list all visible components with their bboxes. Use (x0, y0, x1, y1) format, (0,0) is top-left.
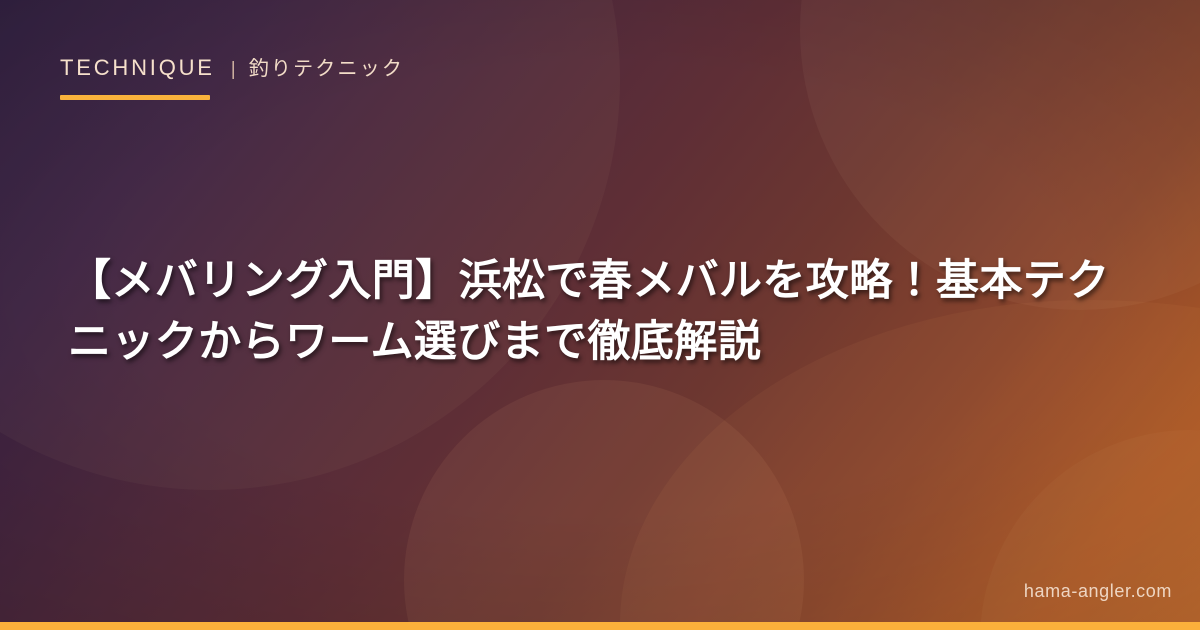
ogp-card: TECHNIQUE | 釣りテクニック 【メバリング入門】浜松で春メバルを攻略！… (0, 0, 1200, 630)
category-label-en: TECHNIQUE (60, 55, 215, 81)
site-domain-label: hama-angler.com (1024, 581, 1172, 602)
page-title: 【メバリング入門】浜松で春メバルを攻略！基本テクニックからワーム選びまで徹底解説 (68, 251, 1128, 373)
category-label-ja: 釣りテクニック (249, 52, 404, 81)
category-underline-accent (60, 95, 210, 100)
category-eyebrow-row: TECHNIQUE | 釣りテクニック (60, 52, 404, 81)
decorative-blob-bottom-center (404, 380, 804, 630)
category-eyebrow: TECHNIQUE | 釣りテクニック (60, 52, 404, 100)
category-divider: | (231, 59, 236, 81)
bottom-accent-bar (0, 622, 1200, 630)
